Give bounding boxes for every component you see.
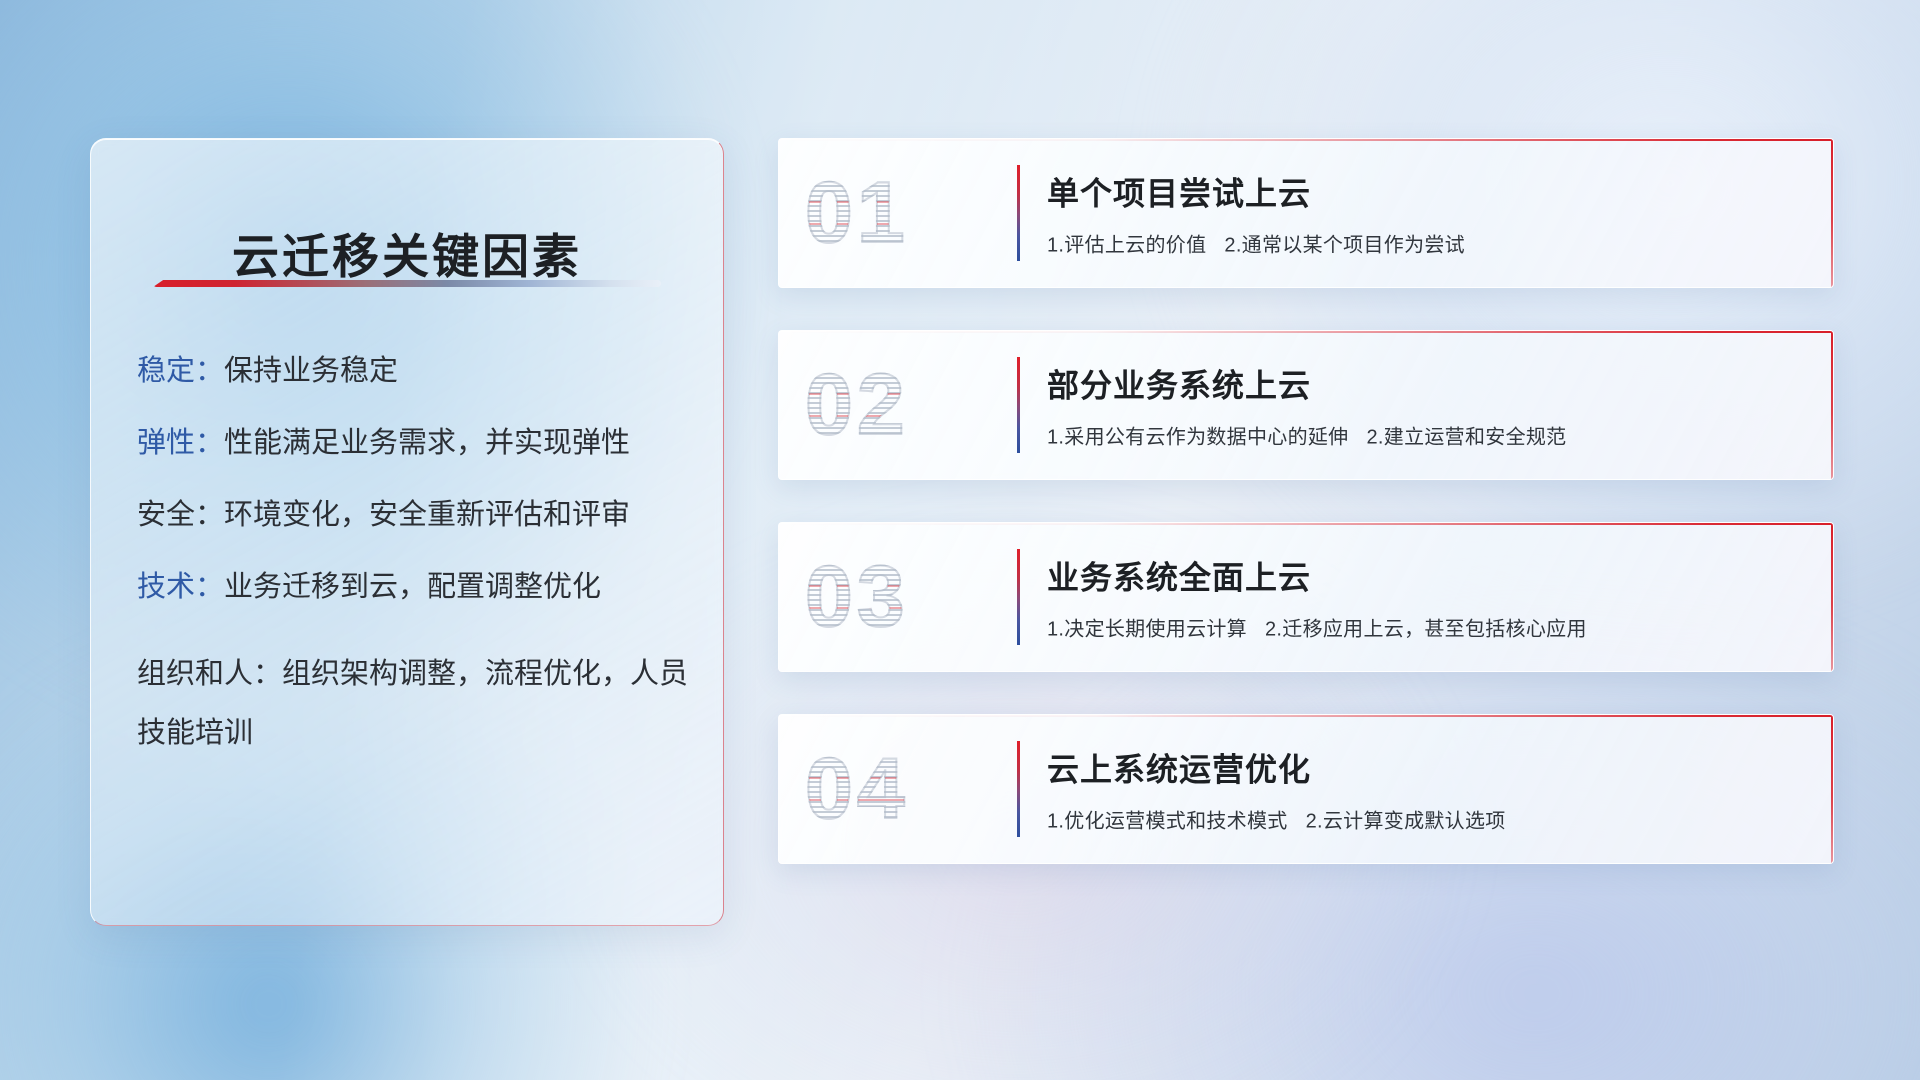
stage-desc-04-part1: 1.优化运营模式和技术模式 bbox=[1047, 811, 1288, 833]
stage-divider-03 bbox=[1017, 549, 1020, 645]
stage-body-01: 单个项目尝试上云 1.评估上云的价值2.通常以某个项目作为尝试 bbox=[1047, 169, 1809, 258]
factor-value-security: 环境变化，安全重新评估和评审 bbox=[224, 499, 630, 531]
stage-card-01[interactable]: 01 01 单个项目尝试上云 1.评估上云的价值2.通常以某个项目作为尝试 bbox=[778, 138, 1834, 288]
stage-desc-01: 1.评估上云的价值2.通常以某个项目作为尝试 bbox=[1047, 229, 1809, 258]
stage-card-02[interactable]: 02 02 部分业务系统上云 1.采用公有云作为数据中心的延伸2.建立运营和安全… bbox=[778, 330, 1834, 480]
factor-label-stability: 稳定： bbox=[137, 355, 224, 387]
stage-body-04: 云上系统运营优化 1.优化运营模式和技术模式2.云计算变成默认选项 bbox=[1047, 745, 1809, 834]
stage-title-04: 云上系统运营优化 bbox=[1047, 745, 1809, 791]
stage-title-02: 部分业务系统上云 bbox=[1047, 361, 1809, 407]
stage-desc-02-part2: 2.建立运营和安全规范 bbox=[1366, 427, 1566, 449]
factor-label-organization: 组织和人： bbox=[137, 658, 282, 690]
factor-label-technology: 技术： bbox=[137, 571, 224, 603]
stage-number-01: 01 bbox=[805, 170, 909, 256]
slide-canvas: 云迁移关键因素 稳定：保持业务稳定 弹性：性能满足业务需求，并实现弹性 安全：环… bbox=[0, 0, 1920, 1080]
stage-divider-02 bbox=[1017, 357, 1020, 453]
key-factors-panel: 云迁移关键因素 稳定：保持业务稳定 弹性：性能满足业务需求，并实现弹性 安全：环… bbox=[90, 138, 724, 926]
stage-desc-03-part1: 1.决定长期使用云计算 bbox=[1047, 619, 1247, 641]
stage-number-02: 02 bbox=[805, 362, 909, 448]
stage-desc-01-part1: 1.评估上云的价值 bbox=[1047, 235, 1206, 257]
stage-number-04: 04 bbox=[805, 746, 909, 832]
stage-desc-04-part2: 2.云计算变成默认选项 bbox=[1306, 811, 1506, 833]
stage-title-01: 单个项目尝试上云 bbox=[1047, 169, 1809, 215]
stage-divider-04 bbox=[1017, 741, 1020, 837]
factor-label-security: 安全： bbox=[137, 499, 224, 531]
stage-desc-01-part2: 2.通常以某个项目作为尝试 bbox=[1224, 235, 1465, 257]
factor-item-technology: 技术：业务迁移到云，配置调整优化 bbox=[137, 573, 695, 602]
factor-item-organization: 组织和人：组织架构调整，流程优化，人员技能培训 bbox=[137, 645, 695, 764]
title-underline-accent bbox=[153, 280, 661, 287]
stage-divider-01 bbox=[1017, 165, 1020, 261]
factor-value-technology: 业务迁移到云，配置调整优化 bbox=[224, 571, 601, 603]
factor-item-security: 安全：环境变化，安全重新评估和评审 bbox=[137, 501, 695, 530]
stage-desc-02: 1.采用公有云作为数据中心的延伸2.建立运营和安全规范 bbox=[1047, 421, 1809, 450]
stage-body-03: 业务系统全面上云 1.决定长期使用云计算2.迁移应用上云，甚至包括核心应用 bbox=[1047, 553, 1809, 642]
stage-title-03: 业务系统全面上云 bbox=[1047, 553, 1809, 599]
stage-number-03: 03 bbox=[805, 554, 909, 640]
stage-desc-03: 1.决定长期使用云计算2.迁移应用上云，甚至包括核心应用 bbox=[1047, 613, 1809, 642]
stage-desc-04: 1.优化运营模式和技术模式2.云计算变成默认选项 bbox=[1047, 805, 1809, 834]
key-factors-list: 稳定：保持业务稳定 弹性：性能满足业务需求，并实现弹性 安全：环境变化，安全重新… bbox=[137, 357, 695, 807]
factor-value-stability: 保持业务稳定 bbox=[224, 355, 398, 387]
migration-stage-cards: 01 01 单个项目尝试上云 1.评估上云的价值2.通常以某个项目作为尝试 02… bbox=[778, 138, 1834, 906]
stage-card-03[interactable]: 03 03 业务系统全面上云 1.决定长期使用云计算2.迁移应用上云，甚至包括核… bbox=[778, 522, 1834, 672]
factor-item-stability: 稳定：保持业务稳定 bbox=[137, 357, 695, 386]
stage-desc-03-part2: 2.迁移应用上云，甚至包括核心应用 bbox=[1265, 619, 1587, 641]
stage-body-02: 部分业务系统上云 1.采用公有云作为数据中心的延伸2.建立运营和安全规范 bbox=[1047, 361, 1809, 450]
stage-card-04[interactable]: 04 04 云上系统运营优化 1.优化运营模式和技术模式2.云计算变成默认选项 bbox=[778, 714, 1834, 864]
factor-value-elasticity: 性能满足业务需求，并实现弹性 bbox=[224, 427, 630, 459]
page-title: 云迁移关键因素 bbox=[91, 218, 723, 287]
stage-desc-02-part1: 1.采用公有云作为数据中心的延伸 bbox=[1047, 427, 1348, 449]
factor-item-elasticity: 弹性：性能满足业务需求，并实现弹性 bbox=[137, 429, 695, 458]
factor-label-elasticity: 弹性： bbox=[137, 427, 224, 459]
